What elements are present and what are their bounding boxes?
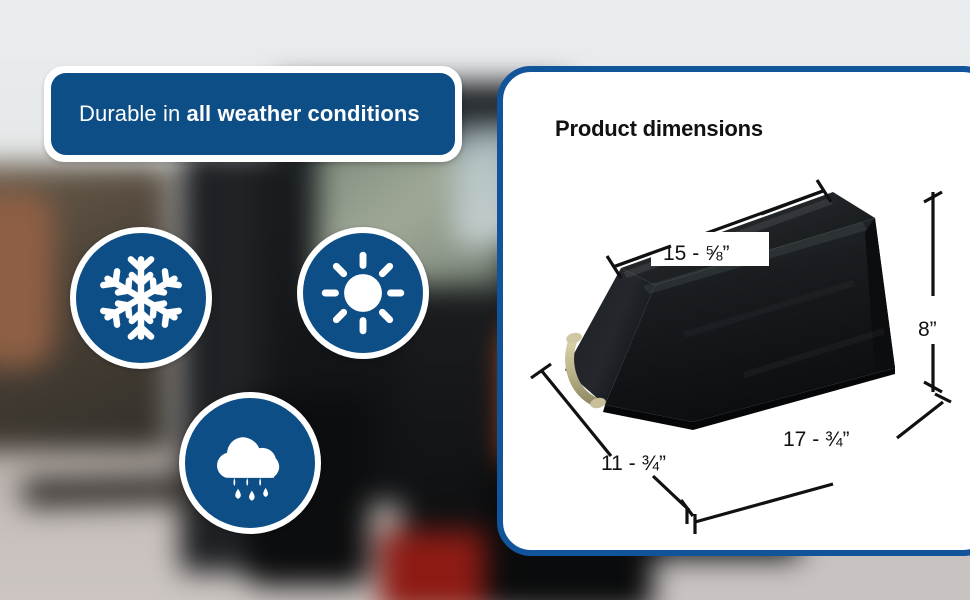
dimension-label-length: 15 - ⅝” — [663, 242, 730, 266]
dimension-label-height: 8” — [918, 318, 937, 342]
dimension-label-depth: 17 - ¾” — [783, 428, 850, 452]
product-chock — [565, 192, 895, 430]
weather-badge-rain — [179, 392, 321, 534]
headline-text-bold: all weather conditions — [187, 101, 420, 126]
product-dimensions-panel: Product dimensions — [497, 66, 970, 556]
weather-badge-snow — [70, 227, 212, 369]
headline-banner-inner: Durable in all weather conditions — [51, 73, 455, 155]
sun-icon — [320, 250, 406, 336]
product-dimension-drawing — [503, 72, 970, 550]
rain-cloud-icon — [204, 417, 296, 509]
headline-banner: Durable in all weather conditions — [44, 66, 462, 162]
promo-banner-image: Durable in all weather conditions — [0, 0, 970, 600]
dimension-label-width: 11 - ¾” — [601, 452, 666, 476]
headline-text-regular: Durable in — [79, 101, 187, 126]
weather-badge-sun — [297, 227, 429, 359]
snowflake-icon — [95, 252, 187, 344]
headline-text: Durable in all weather conditions — [79, 101, 420, 127]
